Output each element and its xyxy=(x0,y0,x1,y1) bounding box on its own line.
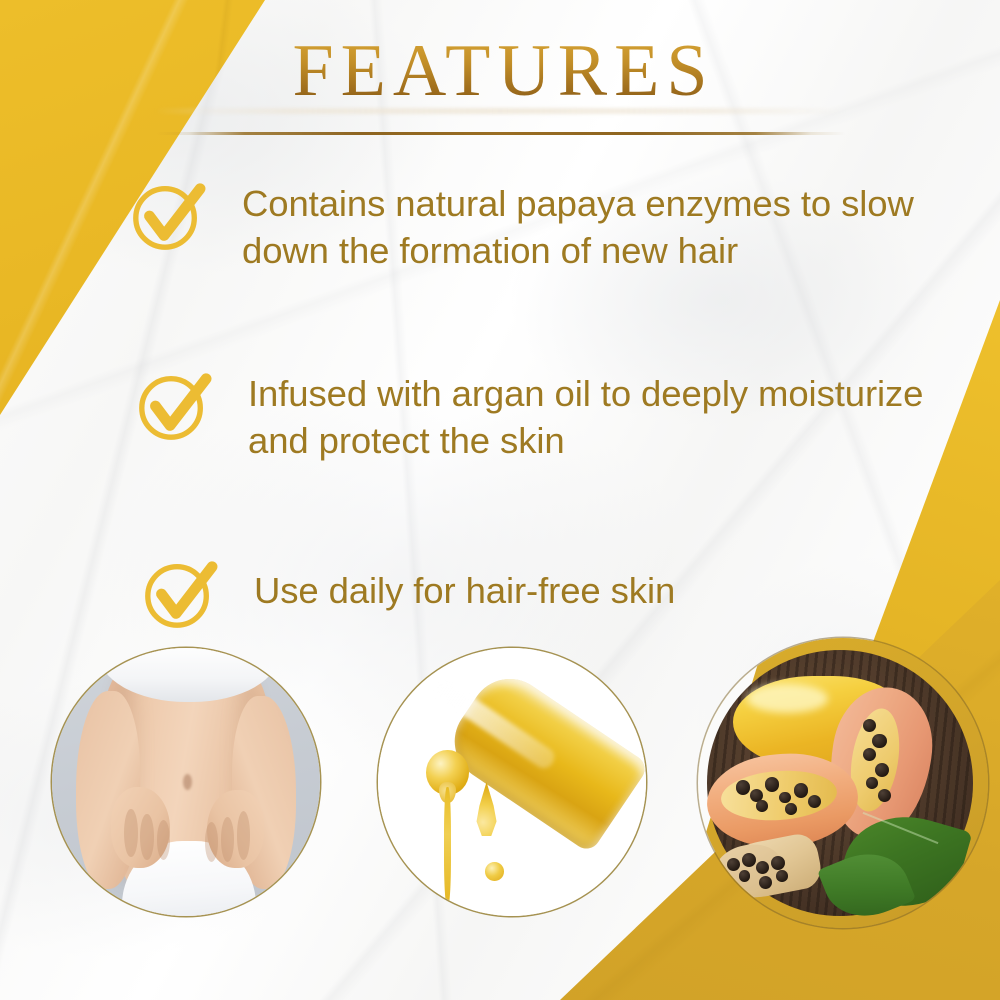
feature-text: Infused with argan oil to deeply moistur… xyxy=(248,365,948,465)
feature-text: Contains natural papaya enzymes to slow … xyxy=(242,175,942,275)
argan-oil-photo xyxy=(378,648,646,916)
title-divider-glow xyxy=(155,108,845,114)
feature-item: Contains natural papaya enzymes to slow … xyxy=(0,175,1000,275)
check-circle-icon xyxy=(128,177,206,255)
page-title: FEATURES xyxy=(0,34,1000,108)
feature-item: Use daily for hair-free skin xyxy=(0,553,1000,633)
papaya-photo xyxy=(698,638,988,928)
title-block: FEATURES xyxy=(0,34,1000,135)
check-circle-icon xyxy=(140,555,218,633)
feature-item: Infused with argan oil to deeply moistur… xyxy=(0,365,1000,465)
smooth-skin-photo xyxy=(52,648,320,916)
feature-list: Contains natural papaya enzymes to slow … xyxy=(0,175,1000,633)
title-divider xyxy=(155,132,845,135)
feature-poster: FEATURES Contains natural papaya enzymes… xyxy=(0,0,1000,1000)
photo-strip xyxy=(0,640,1000,1000)
feature-text: Use daily for hair-free skin xyxy=(254,553,675,614)
check-circle-icon xyxy=(134,367,212,445)
